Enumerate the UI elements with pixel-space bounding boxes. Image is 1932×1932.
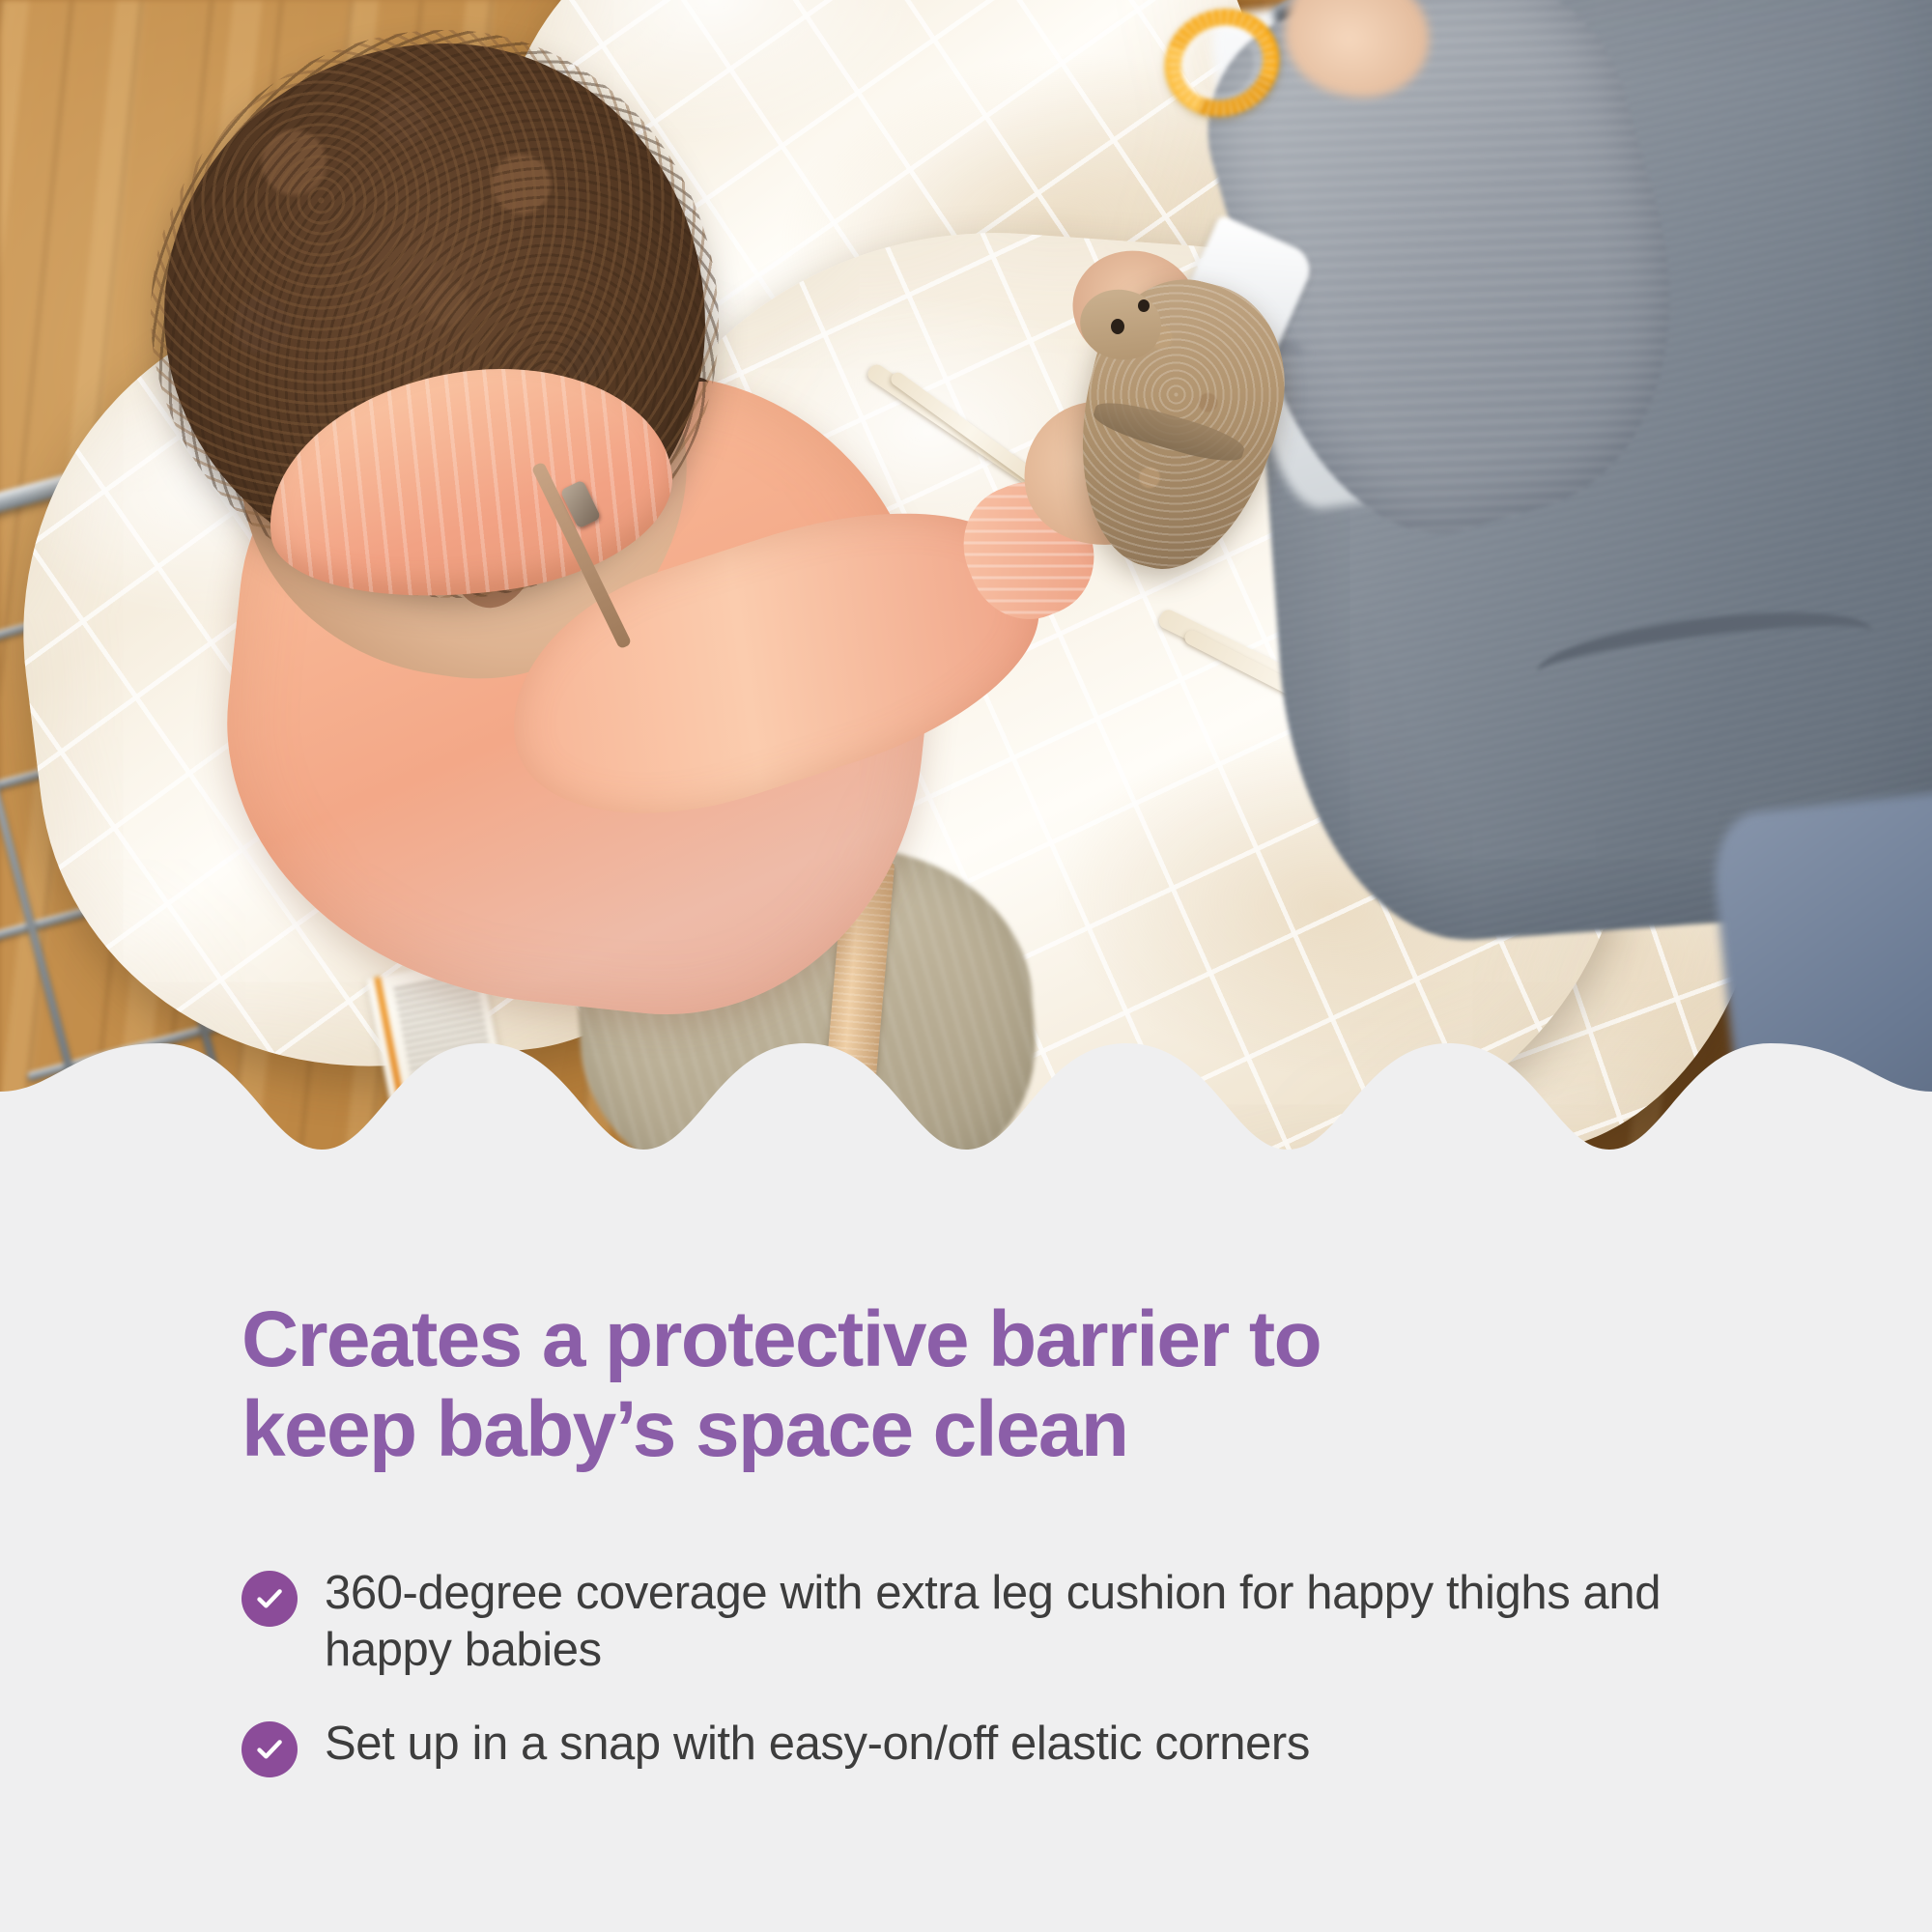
headline-line-2: keep baby’s space clean: [241, 1384, 1748, 1474]
feature-card: Creates a protective barrier to keep bab…: [0, 0, 1932, 1932]
list-item: Set up in a snap with easy-on/off elasti…: [241, 1716, 1787, 1777]
plush-toy-eye: [1138, 299, 1150, 312]
feature-content: Creates a protective barrier to keep bab…: [0, 1207, 1932, 1932]
headline-line-1: Creates a protective barrier to: [241, 1294, 1748, 1384]
bullet-text: 360-degree coverage with extra leg cushi…: [325, 1565, 1787, 1679]
check-circle-icon: [241, 1571, 298, 1627]
list-item: 360-degree coverage with extra leg cushi…: [241, 1565, 1787, 1679]
check-circle-icon: [241, 1721, 298, 1777]
product-lifestyle-photo: [0, 0, 1932, 1207]
wavy-divider: [0, 1034, 1932, 1207]
bullet-text: Set up in a snap with easy-on/off elasti…: [325, 1716, 1310, 1773]
page-title: Creates a protective barrier to keep bab…: [241, 1294, 1748, 1475]
plush-toy-eye: [1111, 319, 1124, 334]
feature-bullet-list: 360-degree coverage with extra leg cushi…: [241, 1565, 1787, 1814]
